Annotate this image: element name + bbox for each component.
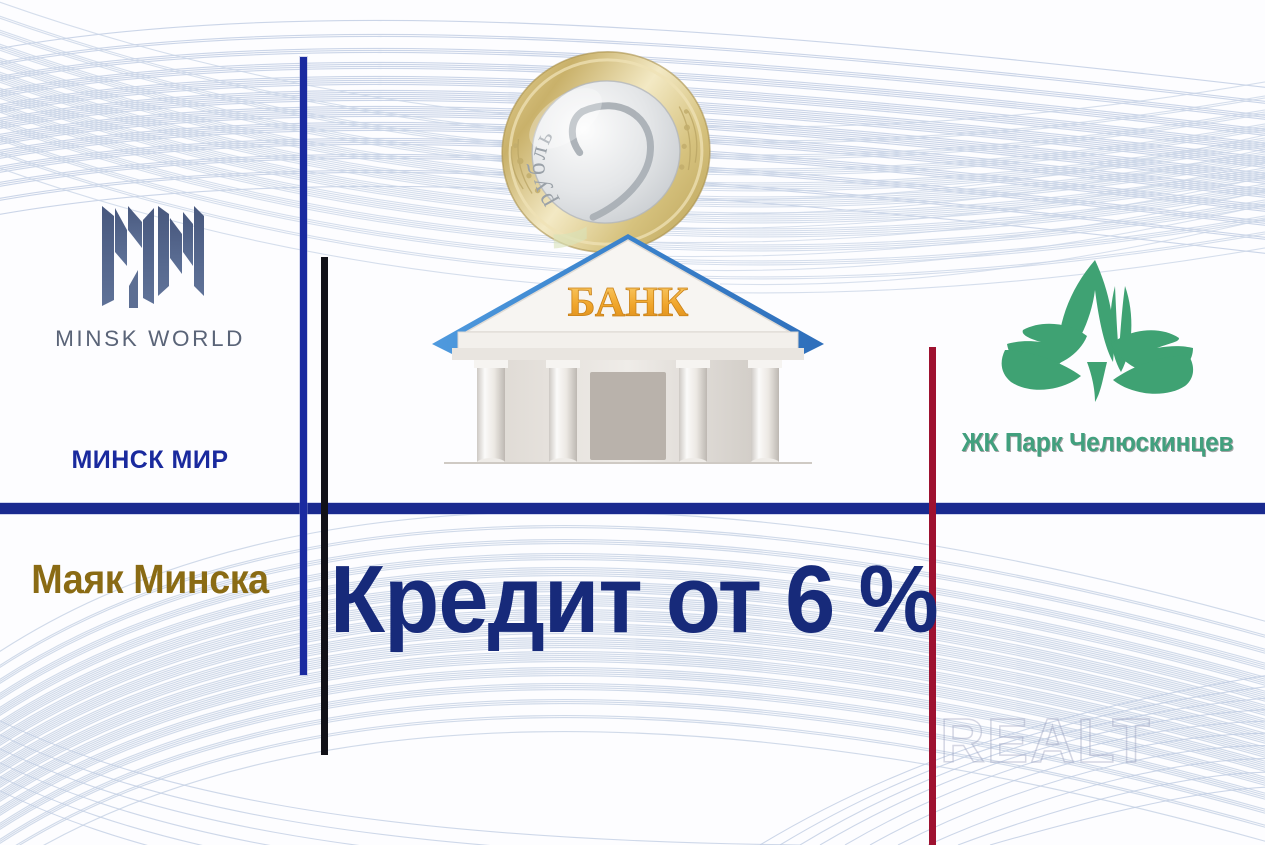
vertical-divider-black xyxy=(321,257,328,755)
mw-monogram-icon xyxy=(92,200,208,312)
park-chelyuskintsev-label: ЖК Парк Челюскинцев xyxy=(937,429,1259,458)
mayak-minska-label: Маяк Минска xyxy=(12,556,288,603)
banner-canvas: REALT xyxy=(0,0,1265,845)
park-chelyuskintsev-logo-block: ЖК Парк Челюскинцев xyxy=(930,252,1265,458)
bank-building-with-coin-illustration: рубль БАНК xyxy=(418,44,838,464)
horizontal-divider-blue xyxy=(0,503,1265,514)
vertical-divider-blue xyxy=(300,57,307,675)
minsk-world-logo-block: MINSK WORLD xyxy=(0,200,300,352)
realt-watermark: REALT xyxy=(940,706,1152,777)
minsk-world-latin-label: MINSK WORLD xyxy=(0,326,300,352)
headline-credit-rate: Кредит от 6 % xyxy=(330,552,894,648)
minsk-world-cyrillic-label: МИНСК МИР xyxy=(0,446,300,475)
bank-pediment-label: БАНК xyxy=(568,280,689,326)
green-leaf-icon xyxy=(983,252,1213,427)
